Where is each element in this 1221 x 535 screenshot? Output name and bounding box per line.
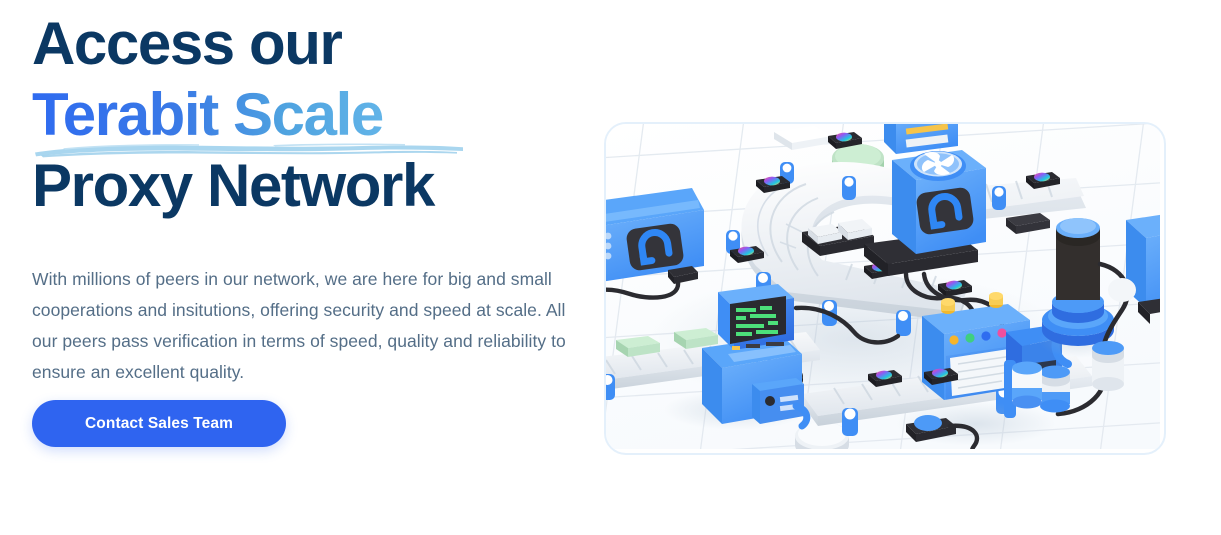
hero-section: Access our Terabit Scale Proxy Network W… (0, 0, 1221, 535)
headline-line-3: Proxy Network (32, 150, 577, 221)
panel-led-row (606, 233, 611, 260)
hero-paragraph: With millions of peers in our network, w… (32, 264, 567, 388)
headline-line-1: Access our (32, 0, 577, 79)
belt-roller (606, 374, 615, 400)
hero-illustration: 3D isometric illustration of a white U-s… (604, 122, 1166, 455)
control-subpanel (752, 378, 804, 424)
illustration-alt-text: 3D isometric illustration of a white U-s… (606, 124, 607, 125)
scanner-knob (989, 292, 1003, 308)
prop-white-puck (1108, 278, 1136, 302)
headline-accent-text: Terabit Scale (32, 81, 383, 148)
proxy-logo-icon (625, 222, 684, 271)
canister (1012, 362, 1042, 409)
belt-roller (842, 176, 856, 200)
belt-roller (842, 408, 858, 436)
contact-sales-team-button[interactable]: Contact Sales Team (32, 400, 286, 447)
belt-roller (896, 310, 911, 336)
hero-copy-column: Access our Terabit Scale Proxy Network W… (32, 0, 577, 221)
fan-icon (910, 151, 966, 181)
canister (1092, 341, 1124, 391)
belt-roller (992, 186, 1006, 210)
headline-line-2: Terabit Scale (32, 79, 577, 150)
scanner-knob (941, 298, 955, 314)
page-title: Access our Terabit Scale Proxy Network (32, 0, 577, 221)
canister (1040, 366, 1070, 413)
proxy-logo-icon (915, 186, 974, 235)
